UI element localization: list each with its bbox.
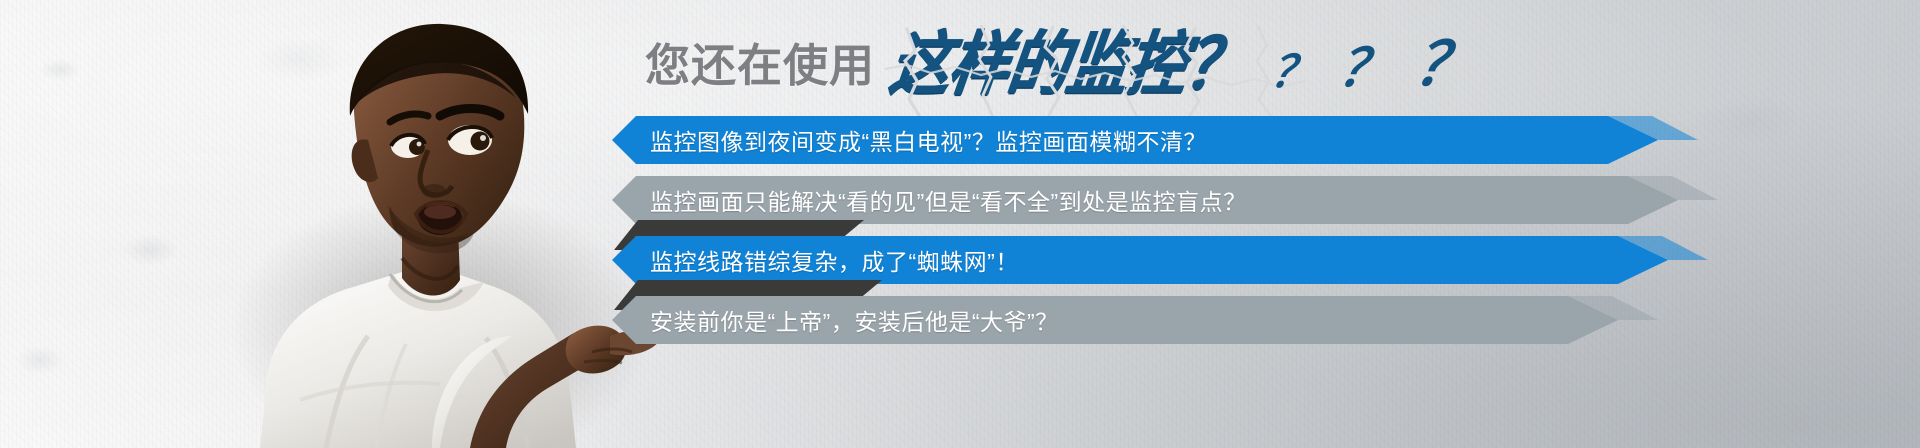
banner-row-4: 安装前你是“上帝”，安装后他是“大爷”？ [0,296,1920,354]
headline-emphasis-wrap: 这样的监控？ [891,35,1245,95]
banner-text-4: 安装前你是“上帝”，安装后他是“大爷”？ [650,296,1059,344]
banner-list: 监控图像到夜间变成“黑白电视”？监控画面模糊不清？ 监控画面只能解决“看的见”但… [0,112,1920,362]
banner-text-1: 监控图像到夜间变成“黑白电视”？监控画面模糊不清？ [650,116,1207,164]
banner-ribbon-3[interactable]: 监控线路错综复杂，成了“蜘蛛网”！ [598,236,1708,284]
banner-ribbon-1[interactable]: 监控图像到夜间变成“黑白电视”？监控画面模糊不清？ [598,116,1698,164]
headline-emphasis: 这样的监控？ [886,30,1250,100]
headline-question-marks: ？ ？ ？ [1271,35,1475,95]
banner-row-2: 监控画面只能解决“看的见”但是“看不全”到处是监控盲点？ [0,176,1920,234]
question-mark-1: ？ [1267,51,1319,95]
headline: 您还在使用 这样的监控？ ？ ？ ？ [645,26,1475,104]
banner-row-3: 监控线路错综复杂，成了“蜘蛛网”！ [0,236,1920,294]
headline-prefix: 您还在使用 [645,43,875,88]
banner-ribbon-4[interactable]: 安装前你是“上帝”，安装后他是“大爷”？ [598,296,1658,344]
question-mark-3: ？ [1410,35,1481,95]
question-mark-2: ？ [1334,43,1395,95]
banner-text-3: 监控线路错综复杂，成了“蜘蛛网”！ [650,236,1019,284]
banner-stage: 您还在使用 这样的监控？ ？ ？ ？ [0,0,1920,448]
banner-ribbon-2[interactable]: 监控画面只能解决“看的见”但是“看不全”到处是监控盲点？ [598,176,1718,224]
banner-row-1: 监控图像到夜间变成“黑白电视”？监控画面模糊不清？ [0,116,1920,174]
banner-text-2: 监控画面只能解决“看的见”但是“看不全”到处是监控盲点？ [650,176,1247,224]
